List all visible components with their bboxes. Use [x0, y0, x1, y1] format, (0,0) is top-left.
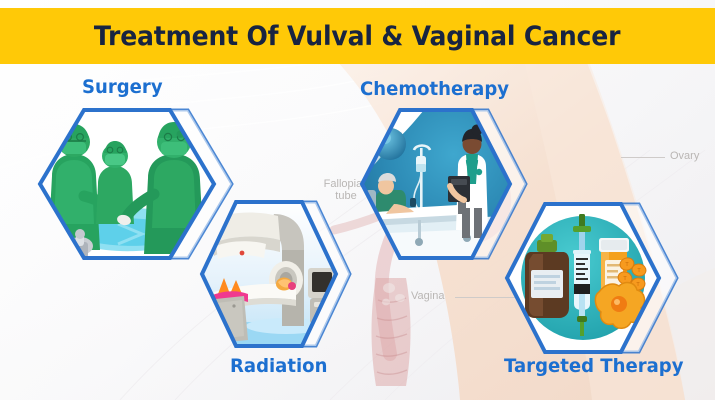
treatment-label-targeted-therapy: Targeted Therapy — [504, 355, 683, 377]
treatment-label-radiation: Radiation — [230, 355, 327, 377]
anatomy-label-line1: Ovary — [670, 150, 699, 162]
ovary-leader-line — [621, 157, 665, 158]
title-banner: Treatment Of Vulval & Vaginal Cancer — [0, 8, 715, 64]
anatomy-label-line1: Vagina — [411, 290, 444, 302]
anatomy-label-vagina: Vagina — [411, 290, 444, 302]
anatomy-label-ovary: Ovary — [670, 150, 699, 162]
infographic-canvas: Fallopian tube Ovary Vagina Treatment Of… — [0, 0, 715, 400]
treatment-label-chemotherapy: Chemotherapy — [360, 78, 509, 100]
treatment-card-targeted-therapy[interactable]: T T T T — [487, 198, 683, 358]
treatment-label-surgery: Surgery — [82, 76, 163, 98]
page-title: Treatment Of Vulval & Vaginal Cancer — [94, 21, 620, 52]
treatment-card-radiation[interactable] — [186, 196, 354, 352]
